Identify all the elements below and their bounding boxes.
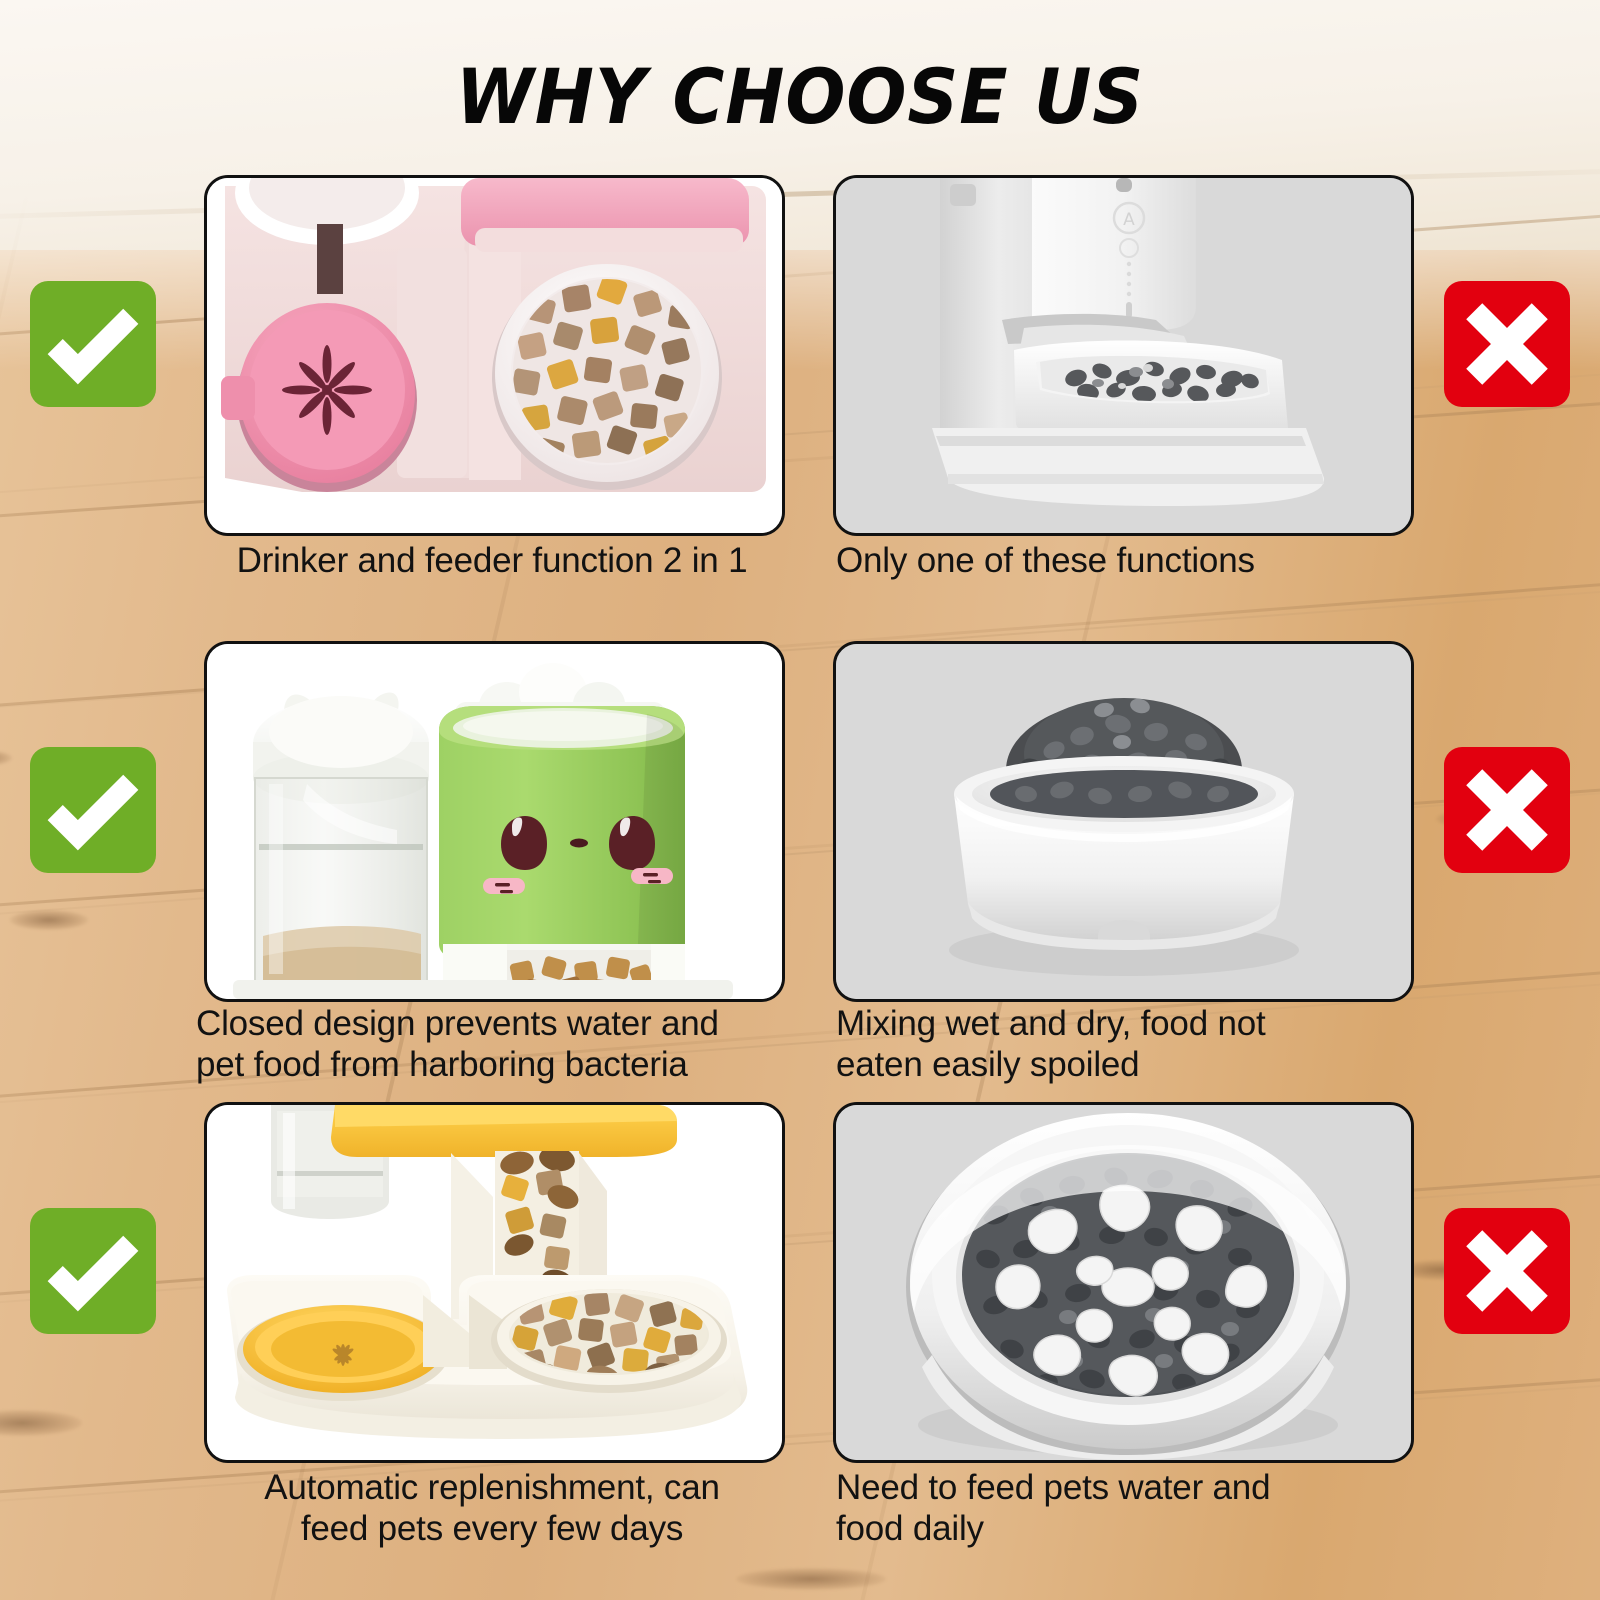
caption-bad-2: Mixing wet and dry, food not eaten easil… [836,1004,1436,1085]
product-image-slow-feeder-bowl [833,1102,1414,1463]
checkmark-icon [30,747,156,873]
caption-bad-3: Need to feed pets water and food daily [836,1468,1436,1549]
checkmark-icon [30,281,156,407]
page-title: WHY CHOOSE US [56,52,1544,141]
caption-good-3: Automatic replenishment, can feed pets e… [196,1468,788,1549]
checkmark-icon [30,1208,156,1334]
product-image-pink-feeder [204,175,785,536]
product-image-green-feeder [204,641,785,1002]
caption-good-1: Drinker and feeder function 2 in 1 [196,541,788,582]
caption-good-2: Closed design prevents water and pet foo… [196,1004,796,1085]
product-image-yellow-feeder [204,1102,785,1463]
cross-icon [1444,281,1570,407]
cross-icon [1444,747,1570,873]
product-image-plain-bowl [833,641,1414,1002]
comparison-grid: A [0,0,1600,1600]
svg-text:A: A [1123,210,1135,230]
caption-bad-1: Only one of these functions [836,541,1436,582]
product-image-white-feeder: A [833,175,1414,536]
cross-icon [1444,1208,1570,1334]
